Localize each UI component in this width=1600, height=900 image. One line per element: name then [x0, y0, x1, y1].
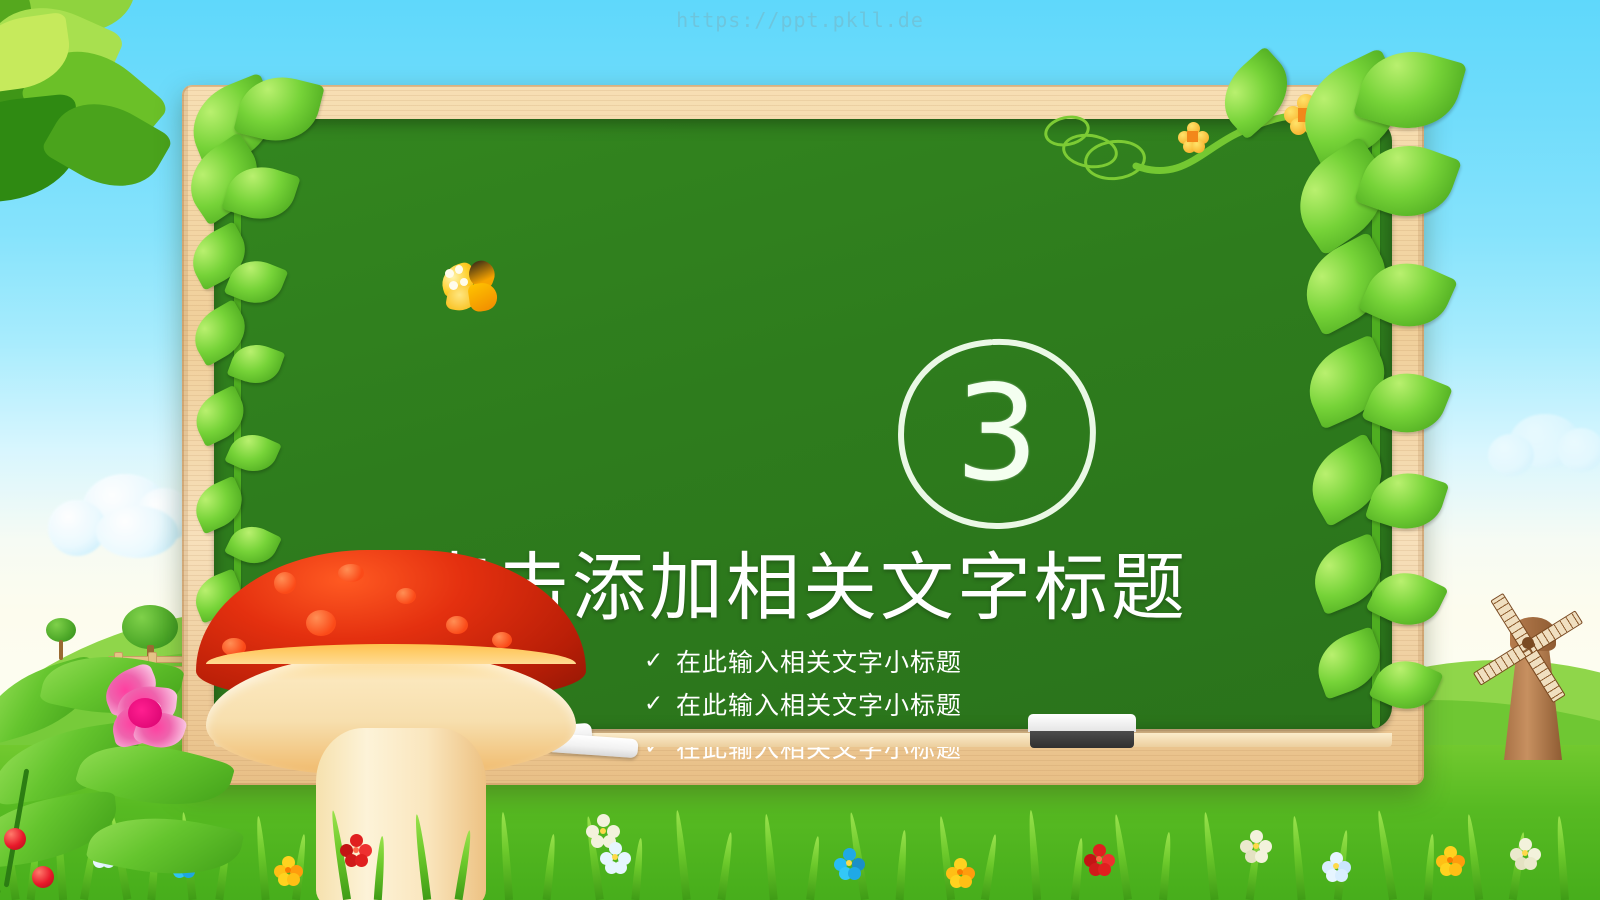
flower-icon	[1510, 838, 1540, 868]
list-item[interactable]: ✓ 在此输入相关文字小标题	[644, 643, 962, 679]
flower-icon	[1240, 830, 1272, 862]
section-number-badge: 3	[892, 334, 1102, 534]
list-item-label: 在此输入相关文字小标题	[676, 686, 962, 722]
check-icon: ✓	[644, 648, 662, 674]
watermark: https://ppt.pkll.de	[0, 8, 1600, 32]
flower-icon	[1436, 846, 1464, 874]
flower-icon	[1178, 122, 1208, 152]
flower-icon	[834, 848, 864, 878]
flower-icon	[1322, 852, 1350, 880]
berry-icon	[32, 866, 54, 888]
check-icon: ✓	[644, 691, 662, 717]
list-item[interactable]: ✓ 在此输入相关文字小标题	[644, 686, 962, 722]
flower-icon	[600, 842, 630, 872]
cloud-icon	[1488, 400, 1600, 480]
flower-icon	[1084, 844, 1114, 874]
section-number: 3	[892, 334, 1102, 534]
flower-icon	[274, 856, 302, 884]
flower-icon	[340, 834, 372, 866]
berry-icon	[4, 828, 26, 850]
flower-icon	[946, 858, 974, 886]
butterfly-icon	[98, 668, 190, 754]
eraser-icon[interactable]	[1028, 714, 1136, 748]
windmill-icon	[1462, 585, 1600, 760]
butterfly-icon	[439, 259, 501, 317]
slide-canvas: 3 点击添加相关文字标题 ✓ 在此输入相关文字小标题	[0, 0, 1600, 900]
cloud-icon	[48, 452, 198, 562]
list-item-label: 在此输入相关文字小标题	[676, 643, 962, 679]
vine-right	[1288, 48, 1458, 748]
